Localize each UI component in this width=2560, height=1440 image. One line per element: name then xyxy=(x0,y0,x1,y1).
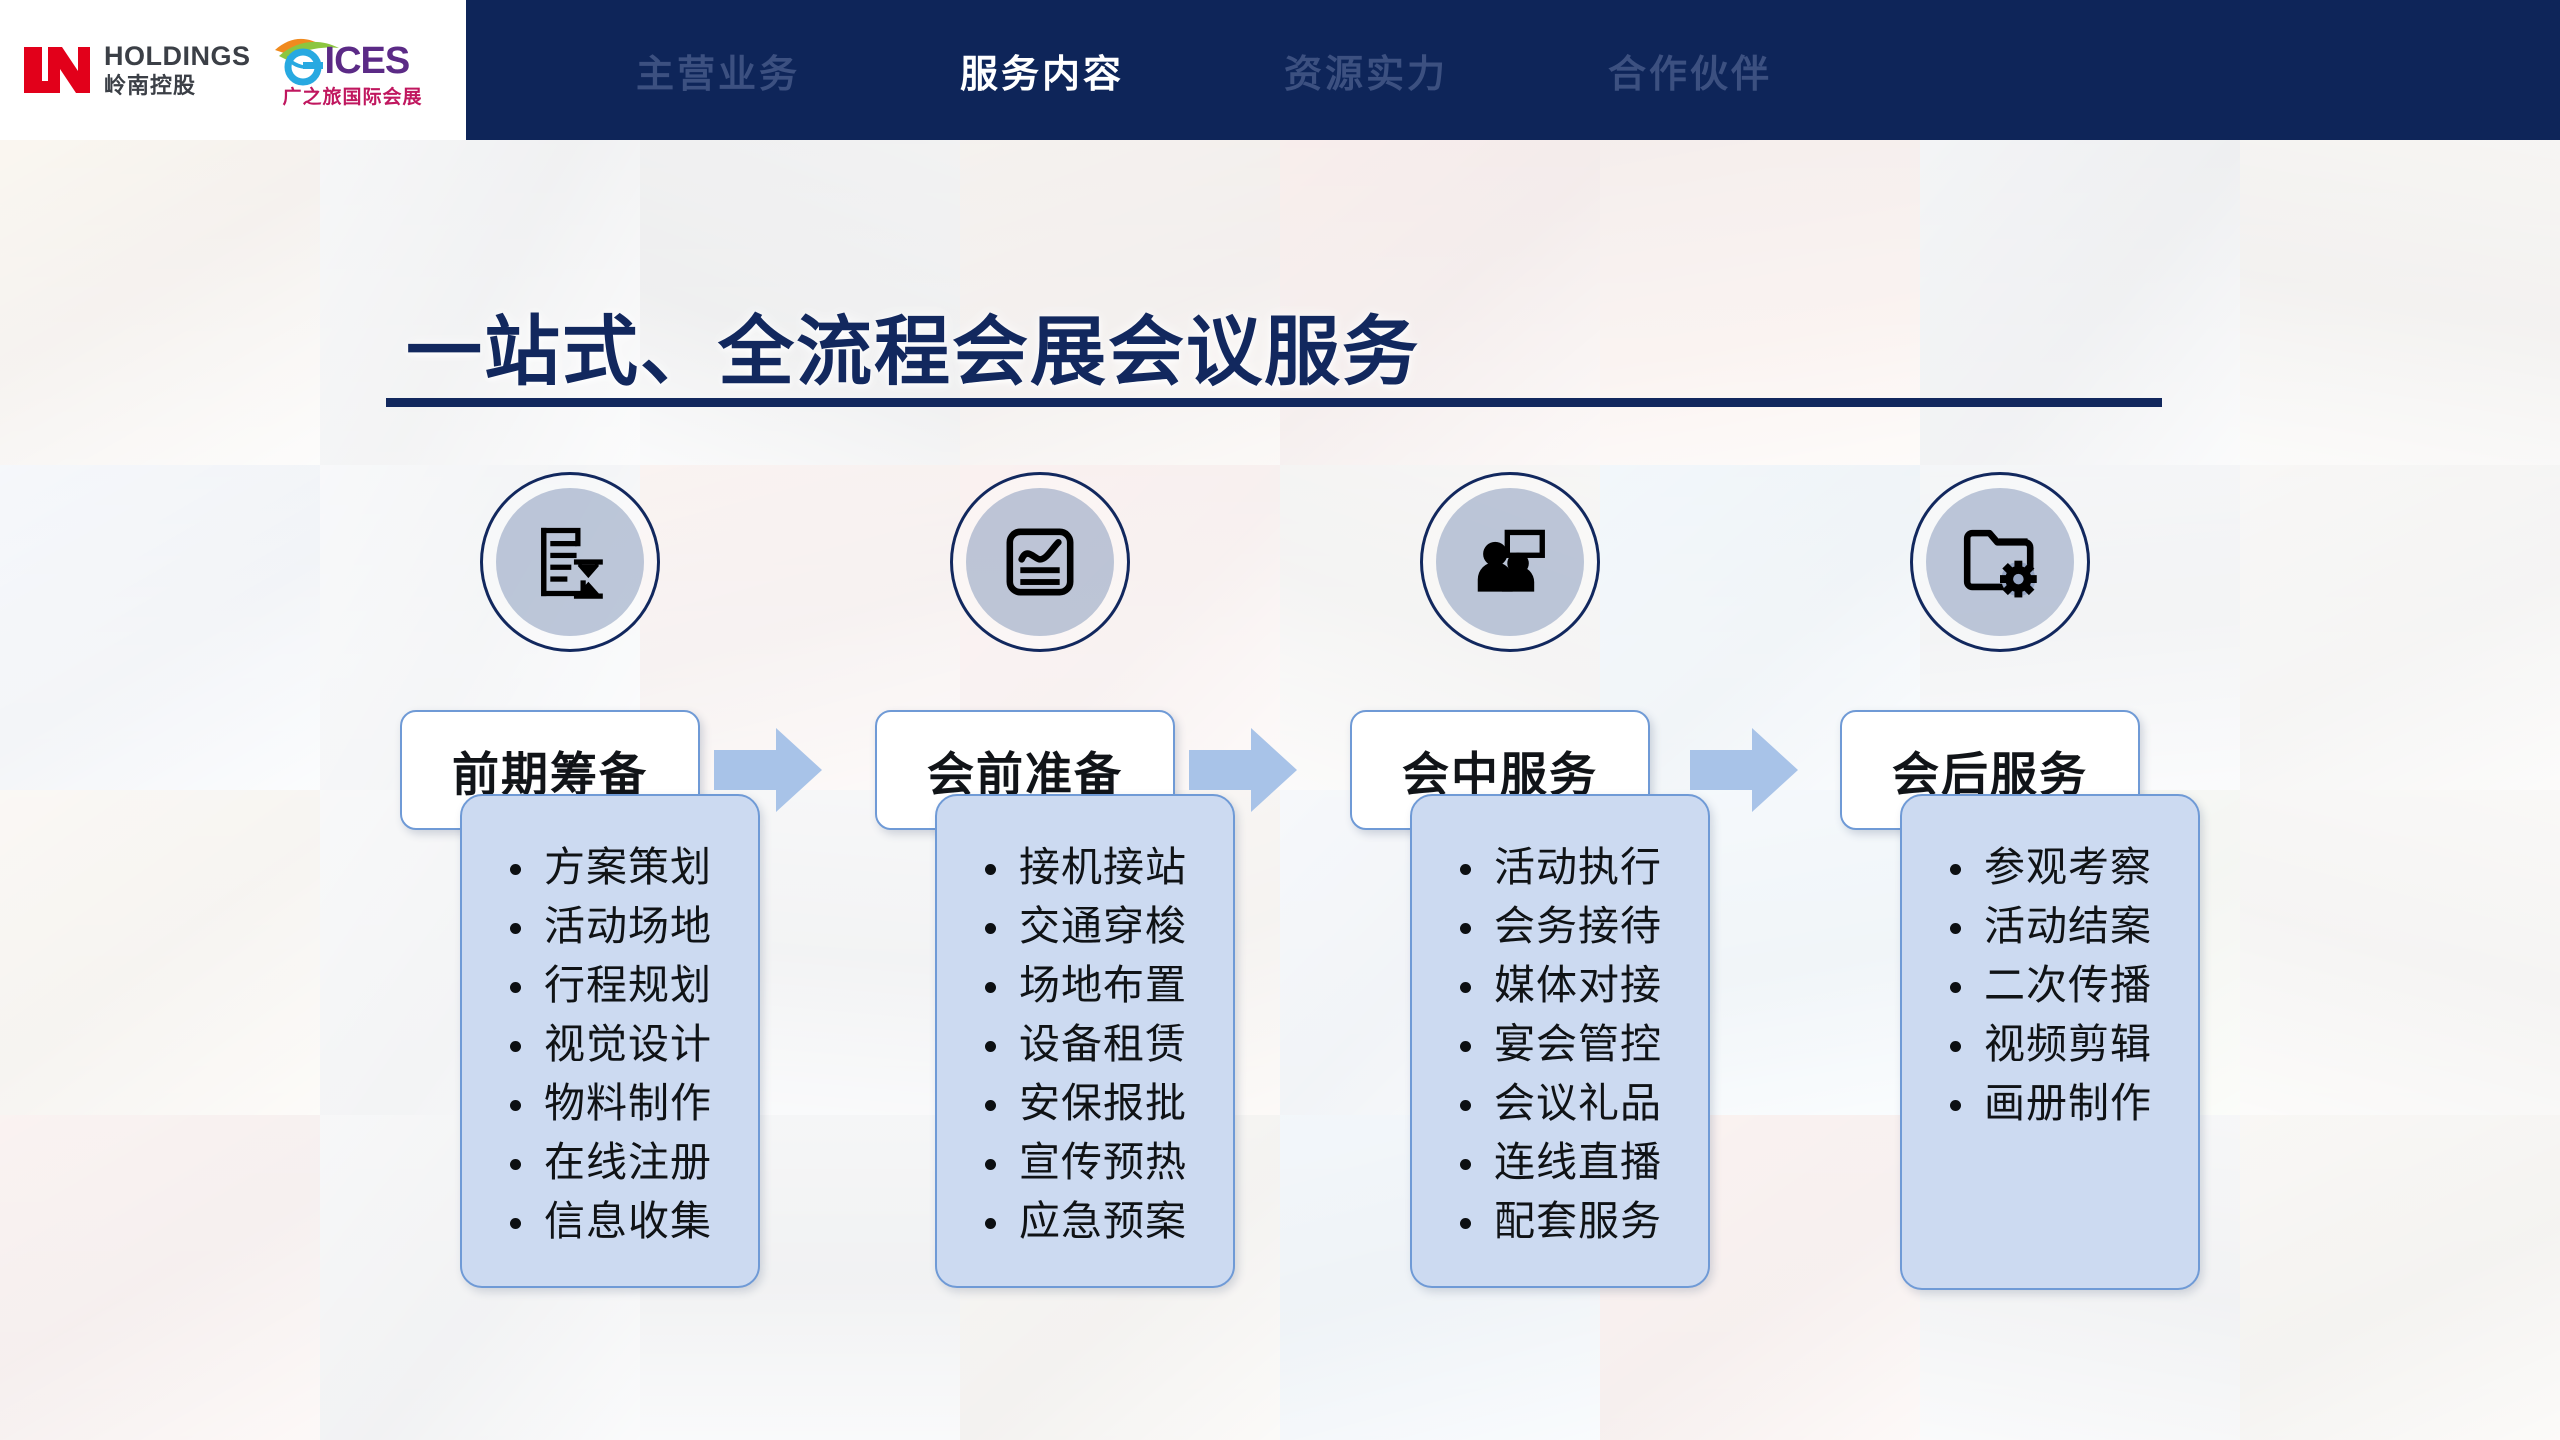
list-item: 会议礼品 xyxy=(1456,1078,1708,1128)
ln-holdings-en: HOLDINGS xyxy=(104,43,251,70)
list-item: 接机接站 xyxy=(981,842,1233,892)
site-header: HOLDINGS 岭南控股 ICES 广之旅国际会展 主营业务 服务内容 xyxy=(0,0,2560,140)
list-item: 设备租赁 xyxy=(981,1019,1233,1069)
nav-item-service-content[interactable]: 服务内容 xyxy=(960,43,1124,98)
list-item: 二次传播 xyxy=(1946,960,2198,1010)
collage-tile xyxy=(0,140,320,465)
list-item: 会务接待 xyxy=(1456,901,1708,951)
stage-icon-circle-3 xyxy=(1420,472,1600,652)
stage-item-list-3: 活动执行 会务接待 媒体对接 宴会管控 会议礼品 连线直播 配套服务 xyxy=(1410,794,1710,1288)
stage-item-list-2: 接机接站 交通穿梭 场地布置 设备租赁 安保报批 宣传预热 应急预案 xyxy=(935,794,1235,1288)
nav-item-main-business[interactable]: 主营业务 xyxy=(636,43,800,98)
flow-arrow-1 xyxy=(714,728,822,812)
collage-tile xyxy=(2240,790,2560,1115)
list-item: 媒体对接 xyxy=(1456,960,1708,1010)
collage-tile xyxy=(1600,140,1920,465)
list-item: 宴会管控 xyxy=(1456,1019,1708,1069)
list-item: 场地布置 xyxy=(981,960,1233,1010)
page-title: 一站式、全流程会展会议服务 xyxy=(406,290,1420,400)
people-speech-icon xyxy=(1436,488,1584,636)
collage-tile xyxy=(0,1115,320,1440)
list-item: 方案策划 xyxy=(506,842,758,892)
ln-holdings-mark-icon xyxy=(20,43,94,97)
ln-holdings-logo[interactable]: HOLDINGS 岭南控股 xyxy=(20,43,251,97)
collage-tile xyxy=(0,465,320,790)
stage-icon-circle-1 xyxy=(480,472,660,652)
list-item: 视频剪辑 xyxy=(1946,1019,2198,1069)
list-item: 视觉设计 xyxy=(506,1019,758,1069)
title-underline xyxy=(386,398,2162,407)
nav-item-resources[interactable]: 资源实力 xyxy=(1284,43,1448,98)
flow-arrow-2 xyxy=(1189,728,1297,812)
list-item: 交通穿梭 xyxy=(981,901,1233,951)
list-item: 在线注册 xyxy=(506,1137,758,1187)
collage-tile xyxy=(2240,140,2560,465)
list-item: 活动场地 xyxy=(506,901,758,951)
stage-item-list-1: 方案策划 活动场地 行程规划 视觉设计 物料制作 在线注册 信息收集 xyxy=(460,794,760,1288)
gices-cn-label: 广之旅国际会展 xyxy=(283,88,423,107)
folder-gear-icon xyxy=(1926,488,2074,636)
stage-icon-circle-4 xyxy=(1910,472,2090,652)
collage-tile xyxy=(0,790,320,1115)
list-item: 画册制作 xyxy=(1946,1078,2198,1128)
ln-holdings-cn: 岭南控股 xyxy=(104,75,251,97)
list-item: 活动执行 xyxy=(1456,842,1708,892)
gices-logo[interactable]: ICES 广之旅国际会展 xyxy=(273,34,433,107)
list-item: 连线直播 xyxy=(1456,1137,1708,1187)
list-item: 物料制作 xyxy=(506,1078,758,1128)
nav-item-partners[interactable]: 合作伙伴 xyxy=(1608,43,1772,98)
stage-icon-circle-2 xyxy=(950,472,1130,652)
collage-tile xyxy=(2240,465,2560,790)
list-item: 应急预案 xyxy=(981,1196,1233,1246)
document-hourglass-icon xyxy=(496,488,644,636)
list-item: 宣传预热 xyxy=(981,1137,1233,1187)
report-chart-icon xyxy=(966,488,1114,636)
list-item: 行程规划 xyxy=(506,960,758,1010)
list-item: 活动结案 xyxy=(1946,901,2198,951)
collage-tile xyxy=(2240,1115,2560,1440)
list-item: 信息收集 xyxy=(506,1196,758,1246)
list-item: 安保报批 xyxy=(981,1078,1233,1128)
flow-arrow-3 xyxy=(1690,728,1798,812)
logo-panel: HOLDINGS 岭南控股 ICES 广之旅国际会展 xyxy=(0,0,466,140)
collage-tile xyxy=(1920,140,2240,465)
list-item: 配套服务 xyxy=(1456,1196,1708,1246)
main-navigation: 主营业务 服务内容 资源实力 合作伙伴 xyxy=(466,0,2560,140)
gices-wordmark: ICES xyxy=(325,42,485,86)
ln-holdings-wordmark: HOLDINGS 岭南控股 xyxy=(104,43,251,97)
gices-top-row: ICES xyxy=(273,34,433,86)
stage-item-list-4: 参观考察 活动结案 二次传播 视频剪辑 画册制作 xyxy=(1900,794,2200,1290)
list-item: 参观考察 xyxy=(1946,842,2198,892)
